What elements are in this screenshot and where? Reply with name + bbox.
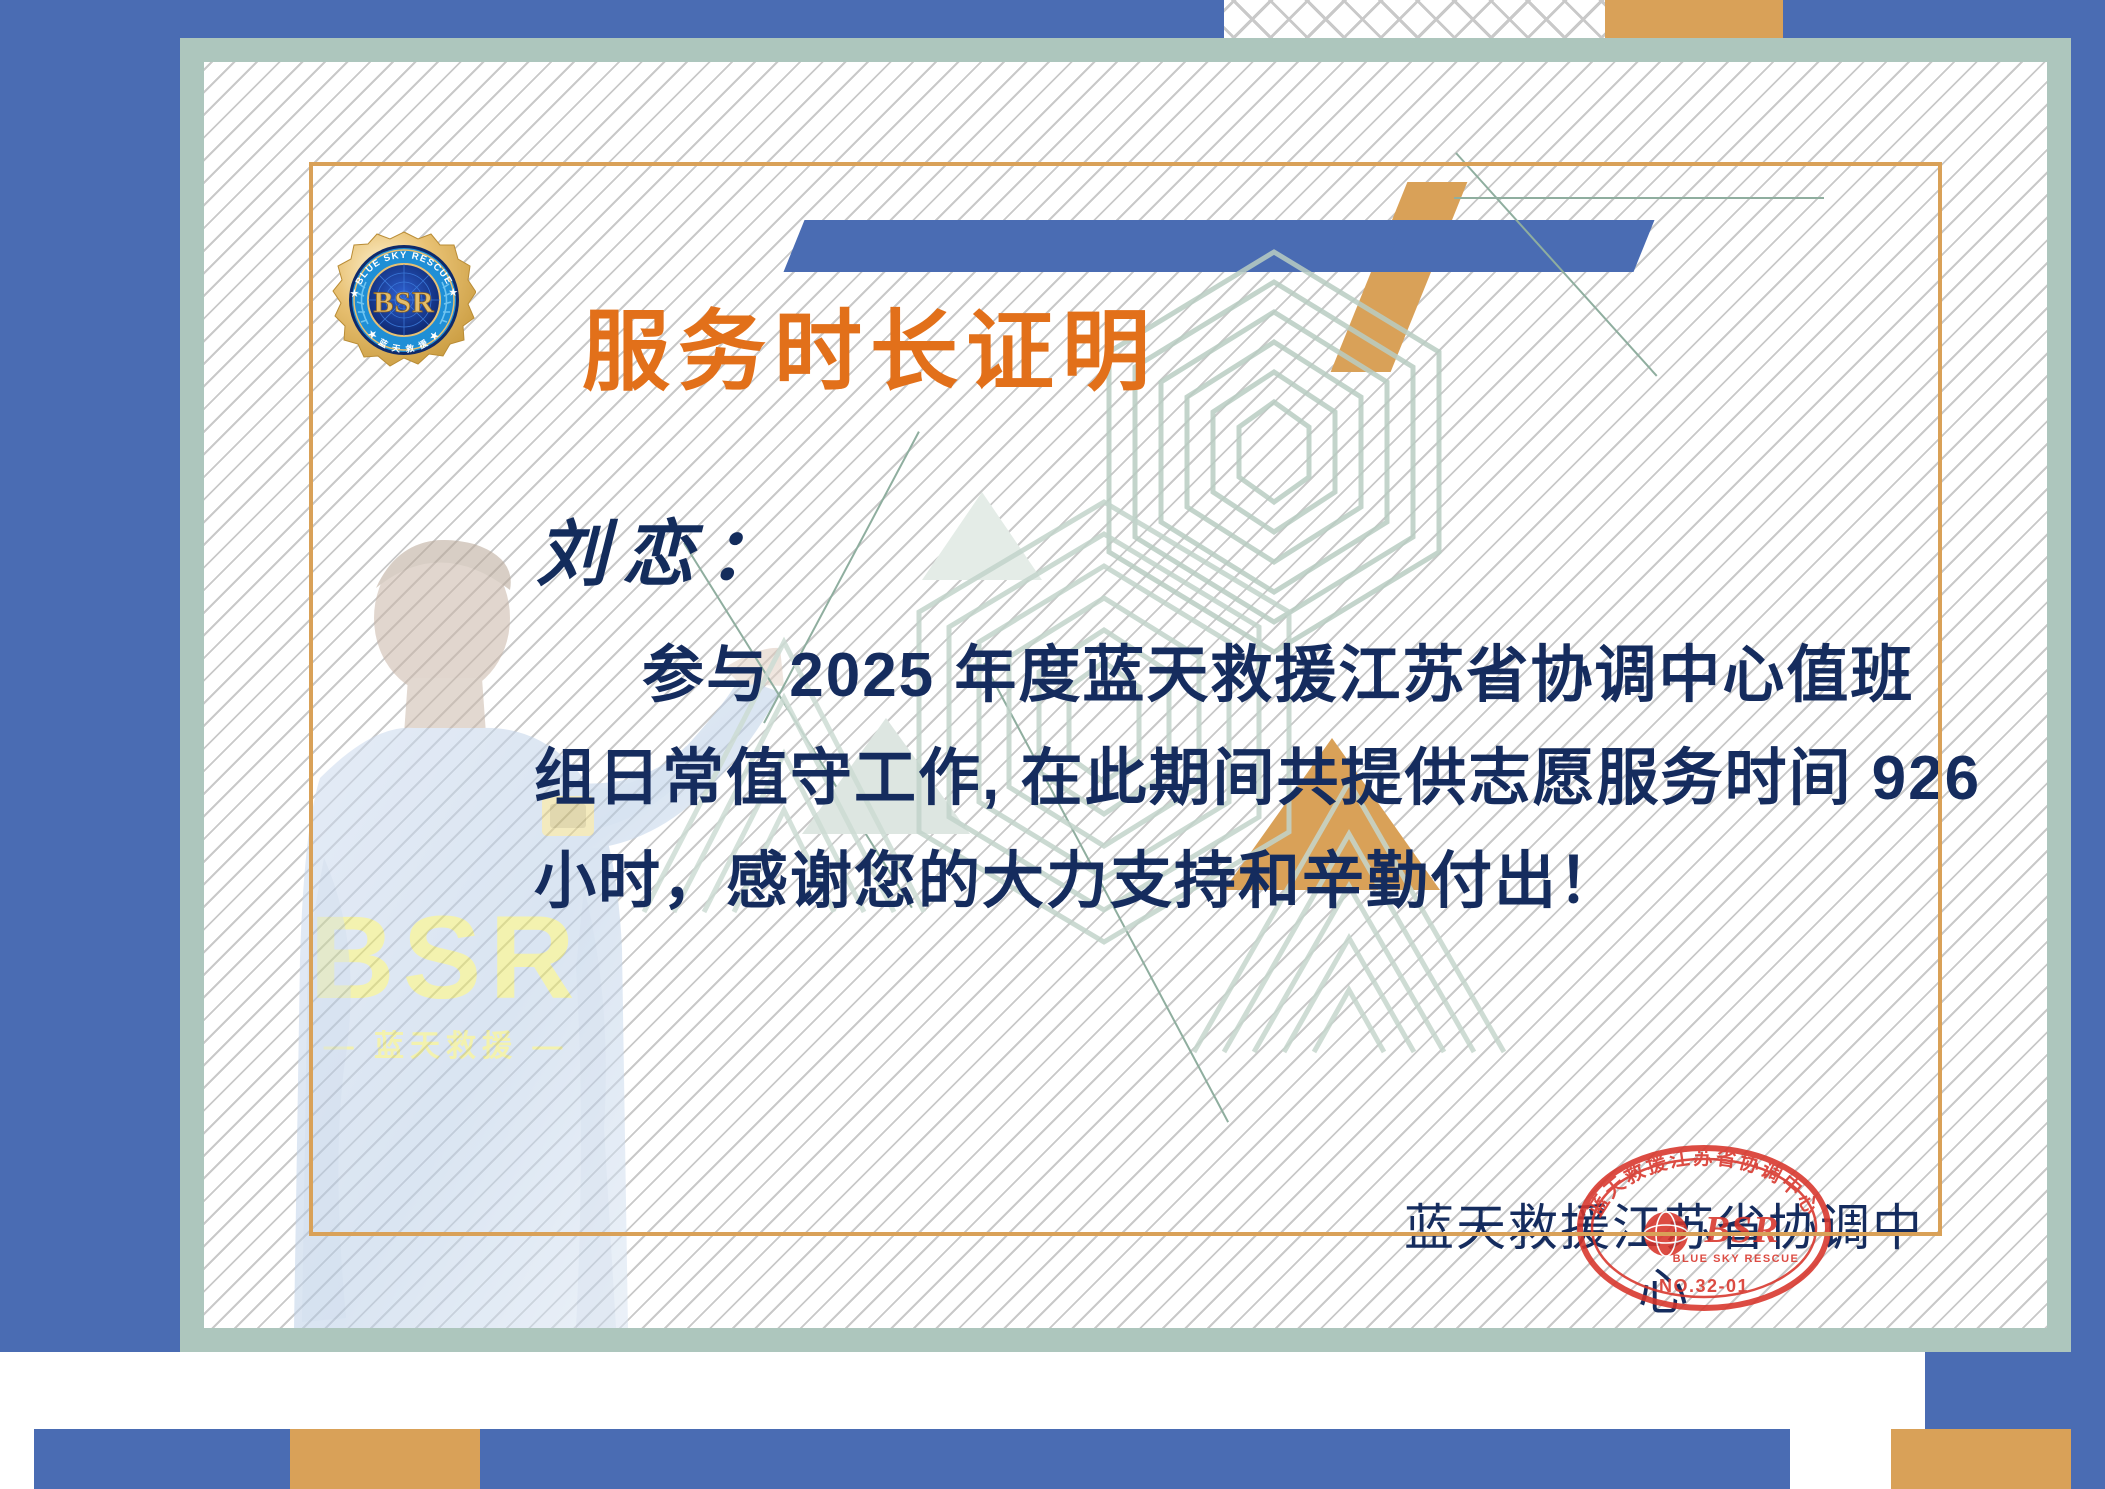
hairline-2 (1455, 152, 1657, 376)
certificate-paper: BSR — 蓝天救援 — (204, 62, 2047, 1328)
certificate-page: BSR — 蓝天救援 — (0, 0, 2105, 1489)
svg-text:— 蓝天救援 —: — 蓝天救援 — (324, 1030, 569, 1063)
gold-accent-bottom-left (290, 1429, 480, 1489)
hairline-1 (1454, 197, 1824, 199)
body-line-2: 组日常值守工作, 在此期间共提供志愿服务时间 926 (534, 727, 2014, 830)
body-line-3: 小时，感谢您的大力支持和辛勤付出！ (534, 830, 2014, 933)
official-seal-stamp: 蓝天救援江苏省协调中心 BSR BLUE SKY RESCUE NO.32-01 (1570, 1142, 1838, 1314)
frame-blue-bottom (290, 1429, 1790, 1489)
svg-text:BLUE SKY RESCUE: BLUE SKY RESCUE (1673, 1253, 1800, 1265)
page-title: 服务时长证明 (582, 310, 1158, 398)
svg-text:NO.32-01: NO.32-01 (1659, 1276, 1749, 1296)
blue-diagonal-banner-2 (1383, 220, 1654, 272)
body-text: 参与 2025 年度蓝天救援江苏省协调中心值班 组日常值守工作, 在此期间共提供… (534, 624, 2014, 933)
body-line-1: 参与 2025 年度蓝天救援江苏省协调中心值班 (534, 624, 2014, 727)
gold-diagonal-banner (1331, 182, 1468, 372)
blue-diagonal-banner (783, 220, 1504, 272)
svg-text:BSR: BSR (1704, 1209, 1780, 1251)
bsr-badge-icon: ★ BLUE SKY RESCUE ★ ★ 蓝 天 救 援 ★ BSR (332, 230, 476, 378)
gold-accent-top (1605, 0, 1783, 38)
gold-accent-bottom-right (1891, 1429, 2071, 1489)
svg-text:BSR: BSR (373, 286, 434, 319)
frame-blue-top (34, 0, 1224, 38)
sage-triangle-small (922, 492, 1042, 580)
frame-blue-bottom-left (34, 1429, 290, 1489)
frame-blue-left (0, 38, 180, 1352)
recipient-name: 刘恋： (536, 519, 794, 591)
